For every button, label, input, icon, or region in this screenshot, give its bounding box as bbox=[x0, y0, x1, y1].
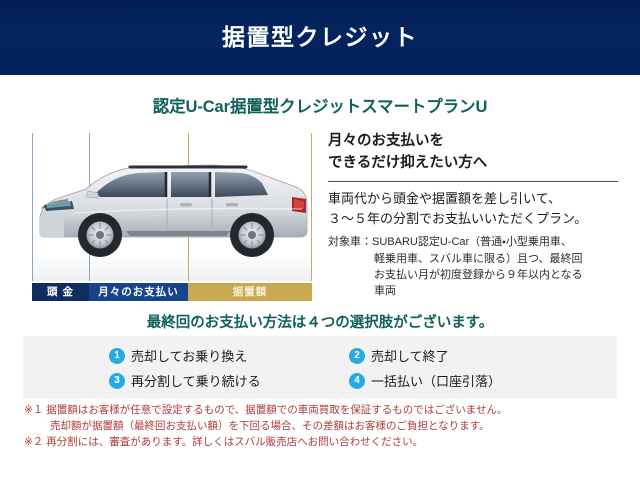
vehicle-illustration bbox=[32, 133, 312, 281]
description-divider bbox=[328, 181, 618, 182]
description-heading-line1: 月々のお支払いを bbox=[328, 130, 620, 152]
option-number-badge-3: 3 bbox=[109, 373, 125, 389]
eligible-vehicles-note: 対象車：SUBARU認定U-Car（普通・小型乗用車、 軽乗用車、スバル車に限る… bbox=[328, 234, 620, 299]
page-title: 据置型クレジット bbox=[222, 26, 418, 49]
plan-subtitle: 認定U-Car据置型クレジットスマートプランU bbox=[0, 93, 640, 117]
option-item-3[interactable]: 3 再分割して乗り続ける bbox=[109, 369, 349, 392]
cost-segment-monthly: 月々のお支払い bbox=[89, 283, 188, 301]
option-number-badge-2: 2 bbox=[349, 348, 365, 364]
eligible-vehicles-line2: 軽乗用車、スバル車に限る）且つ、最終回 bbox=[328, 251, 620, 267]
footnote-2: ※２ 再分割には、審査があります。詳しくはスバル販売店へお問い合わせください。 bbox=[24, 435, 614, 451]
cost-divider-start bbox=[32, 133, 33, 281]
option-item-4[interactable]: 4 一括払い（口座引落） bbox=[349, 369, 579, 392]
eligible-vehicles-line3: お支払い月が初度登録から９年以内となる bbox=[328, 267, 620, 283]
final-payment-options-heading: 最終回のお支払い方法は４つの選択肢がございます。 bbox=[0, 311, 640, 332]
option-label-1: 売却してお乗り換え bbox=[131, 346, 247, 365]
option-item-1[interactable]: 1 売却してお乗り換え bbox=[109, 344, 349, 367]
options-grid: 1 売却してお乗り換え 2 売却して終了 3 再分割して乗り続ける 4 一括払い… bbox=[109, 344, 579, 392]
footnote-1-line-2: 売却額が据置額（最終回お支払い額）を下回る場合、その差額はお客様のご負担となりま… bbox=[24, 419, 614, 435]
cost-segment-residual: 据置額 bbox=[188, 283, 312, 301]
description-body: 車両代から頭金や据置額を差し引いて、 ３～５年の分割でお支払いいただくプラン。 bbox=[328, 189, 620, 229]
description-heading: 月々のお支払いを できるだけ抑えたい方へ bbox=[328, 130, 620, 175]
option-label-3: 再分割して乗り続ける bbox=[131, 371, 261, 390]
eligible-vehicles-line4: 車両 bbox=[328, 283, 620, 299]
option-number-badge-1: 1 bbox=[109, 348, 125, 364]
option-label-4: 一括払い（口座引落） bbox=[371, 371, 501, 390]
vehicle-cost-diagram: 頭 金 月々のお支払い 据置額 bbox=[32, 133, 312, 301]
eligible-vehicles-line1: 対象車：SUBARU認定U-Car（普通・小型乗用車、 bbox=[328, 236, 572, 248]
page-header-banner: 据置型クレジット bbox=[0, 0, 640, 75]
description-body-line2: ３～５年の分割でお支払いいただくプラン。 bbox=[328, 209, 620, 229]
cost-breakdown-bar: 頭 金 月々のお支払い 据置額 bbox=[32, 283, 312, 301]
option-item-2[interactable]: 2 売却して終了 bbox=[349, 344, 579, 367]
plan-description: 月々のお支払いを できるだけ抑えたい方へ 車両代から頭金や据置額を差し引いて、 … bbox=[328, 130, 620, 300]
suv-car-icon bbox=[34, 147, 312, 269]
description-body-line1: 車両代から頭金や据置額を差し引いて、 bbox=[328, 189, 620, 209]
footnote-1-line-1: ※１ 据置額はお客様が任意で設定するもので、据置額での車両買取を保証するものでは… bbox=[24, 403, 614, 419]
cost-segment-downpayment: 頭 金 bbox=[32, 283, 89, 301]
final-payment-options-panel: 1 売却してお乗り換え 2 売却して終了 3 再分割して乗り続ける 4 一括払い… bbox=[23, 336, 617, 398]
option-number-badge-4: 4 bbox=[349, 373, 365, 389]
description-heading-line2: できるだけ抑えたい方へ bbox=[328, 152, 620, 174]
option-label-2: 売却して終了 bbox=[371, 346, 449, 365]
footnotes: ※１ 据置額はお客様が任意で設定するもので、据置額での車両買取を保証するものでは… bbox=[24, 403, 614, 450]
